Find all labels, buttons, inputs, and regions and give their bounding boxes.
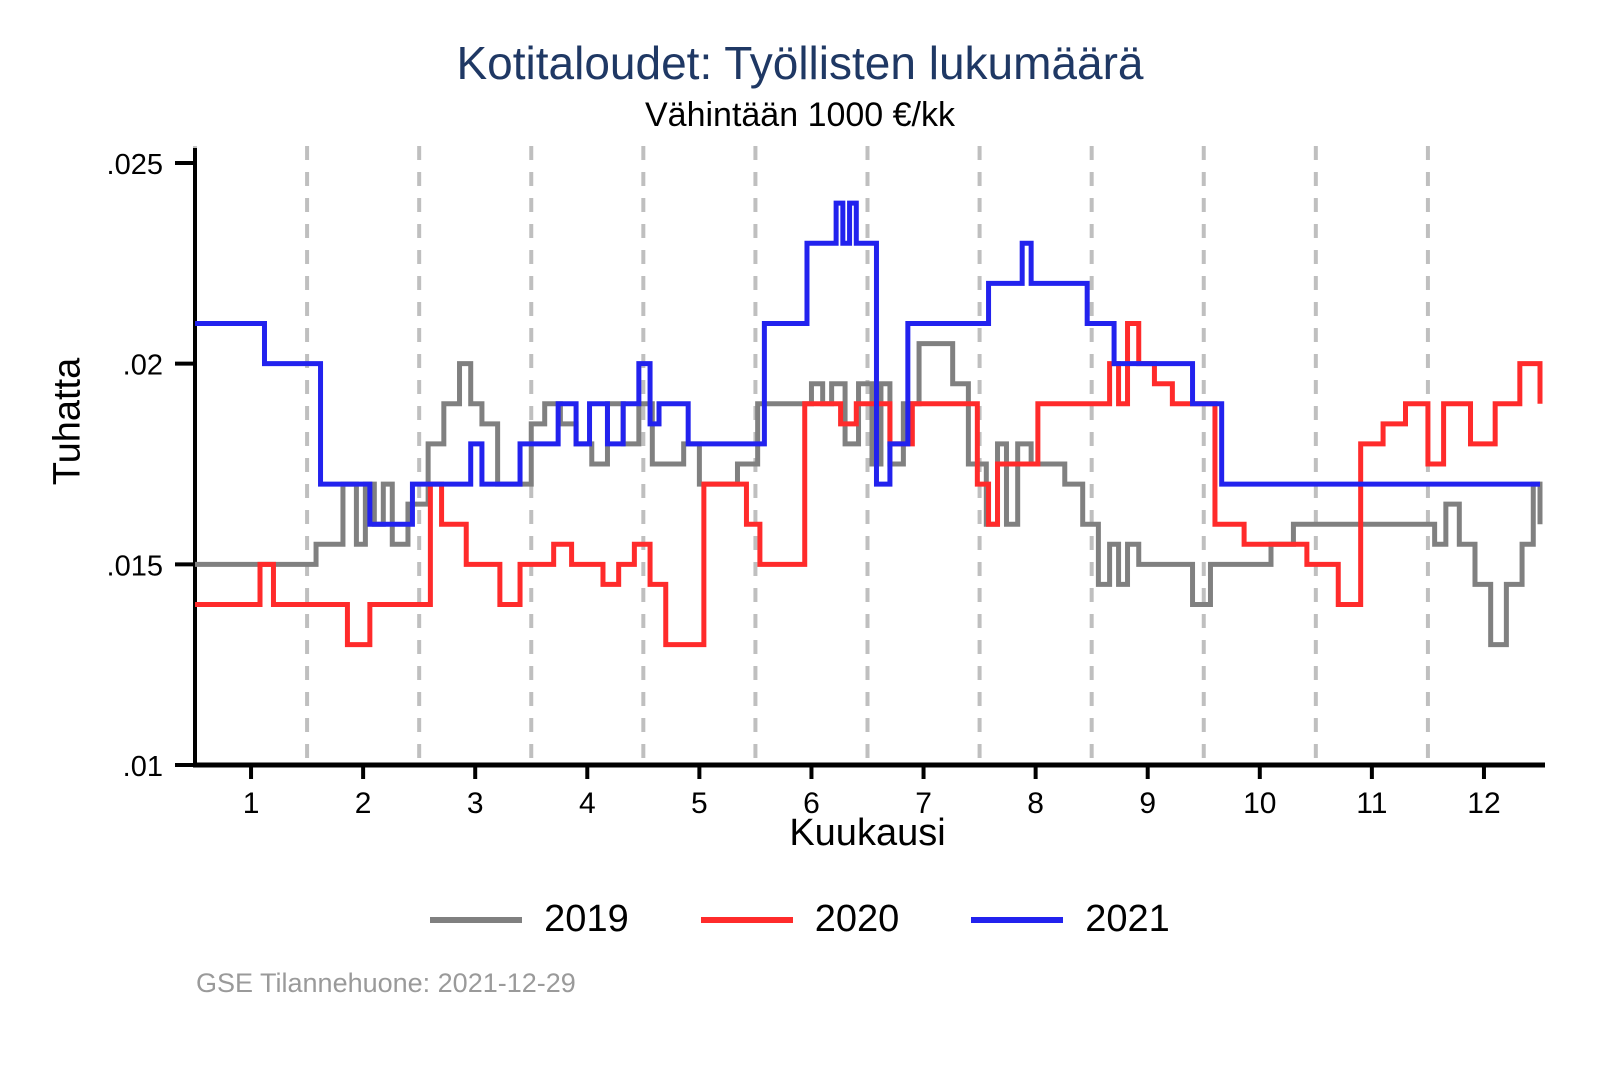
x-axis-tick-label: 8 bbox=[1027, 787, 1044, 820]
legend-item-2020[interactable]: 2020 bbox=[701, 898, 972, 941]
legend-item-2019[interactable]: 2019 bbox=[430, 898, 701, 941]
x-axis-tick-label: 12 bbox=[1467, 787, 1500, 820]
x-axis-tick-label: 2 bbox=[355, 787, 372, 820]
legend-label-2019: 2019 bbox=[544, 898, 629, 941]
legend-label-2020: 2020 bbox=[815, 898, 900, 941]
chart-page: Kotitaloudet: Työllisten lukumäärä Vähin… bbox=[0, 0, 1600, 1067]
x-axis-tick-label: 10 bbox=[1243, 787, 1276, 820]
x-axis-tick-label: 11 bbox=[1356, 787, 1387, 820]
legend-item-2021[interactable]: 2021 bbox=[971, 898, 1170, 941]
x-axis-tick-label: 4 bbox=[579, 787, 596, 820]
x-axis-tick-label: 3 bbox=[467, 787, 484, 820]
legend-swatch-2021 bbox=[971, 917, 1063, 923]
x-axis-tick-label: 1 bbox=[243, 787, 260, 820]
x-axis-tick-label: 7 bbox=[915, 787, 932, 820]
legend-swatch-2020 bbox=[701, 917, 793, 923]
chart-plot-area: .01.015.02.025123456789101112 bbox=[0, 0, 1600, 880]
x-axis-tick-label: 6 bbox=[803, 787, 820, 820]
y-axis-tick-label: .01 bbox=[123, 751, 163, 783]
legend-label-2021: 2021 bbox=[1085, 898, 1170, 941]
x-axis-tick-label: 5 bbox=[691, 787, 708, 820]
chart-legend: 2019 2020 2021 bbox=[0, 898, 1600, 941]
x-axis-tick-label: 9 bbox=[1139, 787, 1156, 820]
source-footer: GSE Tilannehuone: 2021-12-29 bbox=[196, 968, 576, 999]
y-axis-tick-label: .02 bbox=[123, 350, 163, 382]
y-axis-tick-label: .015 bbox=[107, 550, 163, 582]
legend-swatch-2019 bbox=[430, 917, 522, 923]
y-axis-tick-label: .025 bbox=[107, 149, 163, 181]
